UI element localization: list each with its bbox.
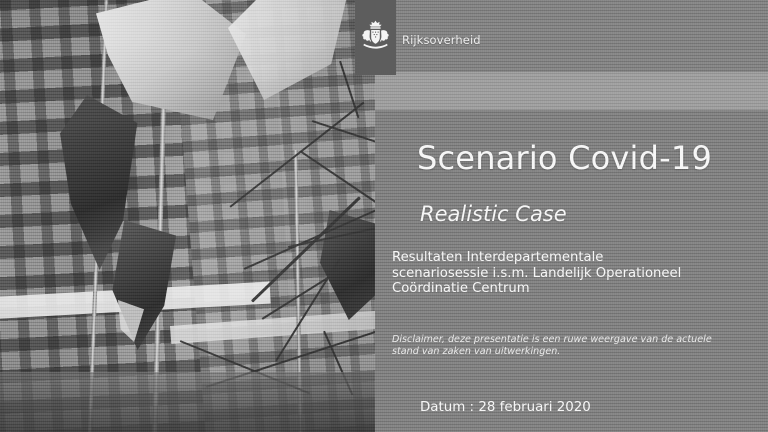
rijksoverheid-logo-box <box>355 0 396 75</box>
panel-subheader-band <box>375 72 768 110</box>
photo-grain <box>0 0 390 432</box>
slide-body-text: Resultaten Interdepartementale scenarios… <box>392 250 692 297</box>
presentation-slide: Rijksoverheid Scenario Covid-19 Realisti… <box>0 0 768 432</box>
slide-disclaimer: Disclaimer, deze presentatie is een ruwe… <box>392 334 722 357</box>
dutch-coat-of-arms-icon <box>359 20 392 56</box>
slide-subtitle: Realistic Case <box>420 202 567 226</box>
slide-date: Datum : 28 februari 2020 <box>420 400 591 415</box>
slide-title: Scenario Covid-19 <box>417 139 712 177</box>
rijksoverheid-wordmark: Rijksoverheid <box>402 33 481 47</box>
building-photograph <box>0 0 390 432</box>
